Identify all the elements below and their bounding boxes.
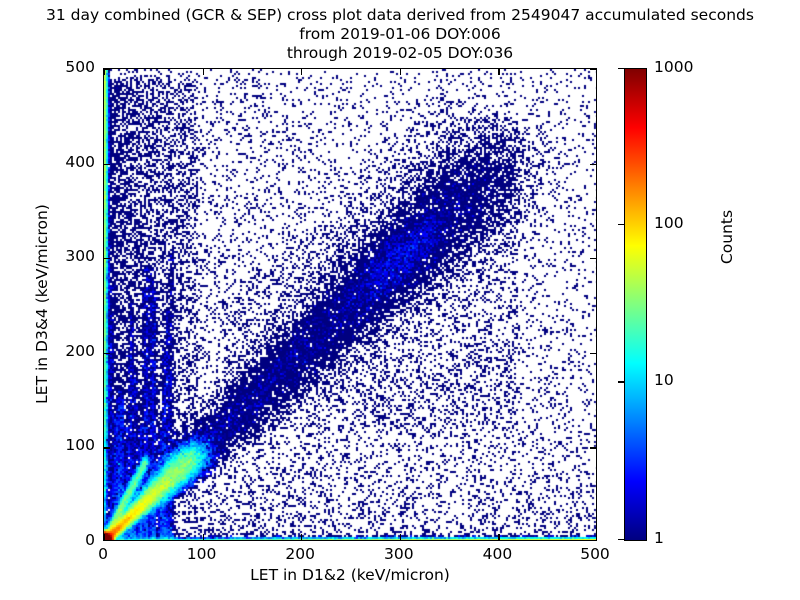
ytick-left-0 [104,540,110,541]
xticklabel-200: 200 [260,545,340,563]
cbtick-10 [618,381,624,382]
ytick-right-0 [590,540,596,541]
x-axis-label: LET in D1&2 (keV/micron) [103,566,597,584]
plot-title: 31 day combined (GCR & SEP) cross plot d… [0,6,800,63]
yticklabel-500: 500 [33,58,95,76]
plot-axes [103,68,597,541]
xticklabel-500: 500 [555,545,635,563]
xtick-bottom-400 [498,534,499,540]
yticklabel-0: 0 [33,531,95,549]
cbtick-100 [618,224,624,225]
y-axis-label: LET in D3&4 (keV/micron) [33,164,51,444]
title-line-2: from 2019-01-06 DOY:006 [0,25,800,44]
ytick-right-100 [590,447,596,448]
ytick-right-300 [590,258,596,259]
cbticklabel-10: 10 [654,371,674,389]
cbtick-1 [618,539,624,540]
xticklabel-400: 400 [457,545,537,563]
xtick-top-100 [203,69,204,75]
ytick-right-500 [590,69,596,70]
density-scatter-canvas [104,69,597,541]
xtick-bottom-500 [596,534,597,540]
ytick-left-500 [104,69,110,70]
cbticklabel-1: 1 [654,529,664,547]
xtick-top-200 [301,69,302,75]
ytick-left-100 [104,447,110,448]
ytick-right-400 [590,164,596,165]
cbticklabel-1000: 1000 [654,58,693,76]
xtick-top-400 [498,69,499,75]
ytick-left-200 [104,353,110,354]
cbtick-1000 [618,68,624,69]
title-line-1: 31 day combined (GCR & SEP) cross plot d… [0,6,800,25]
xtick-top-500 [596,69,597,75]
xtick-top-300 [400,69,401,75]
xtick-bottom-300 [400,534,401,540]
ytick-left-400 [104,164,110,165]
xtick-bottom-200 [301,534,302,540]
colorbar: 1 10 100 1000 [624,68,647,541]
xticklabel-100: 100 [162,545,242,563]
figure-container: 31 day combined (GCR & SEP) cross plot d… [0,0,800,600]
ytick-left-300 [104,258,110,259]
xticklabel-300: 300 [359,545,439,563]
ytick-right-200 [590,353,596,354]
xtick-bottom-100 [203,534,204,540]
colorbar-label: Counts [718,122,736,352]
cbticklabel-100: 100 [654,214,684,232]
colorbar-gradient [624,68,647,541]
